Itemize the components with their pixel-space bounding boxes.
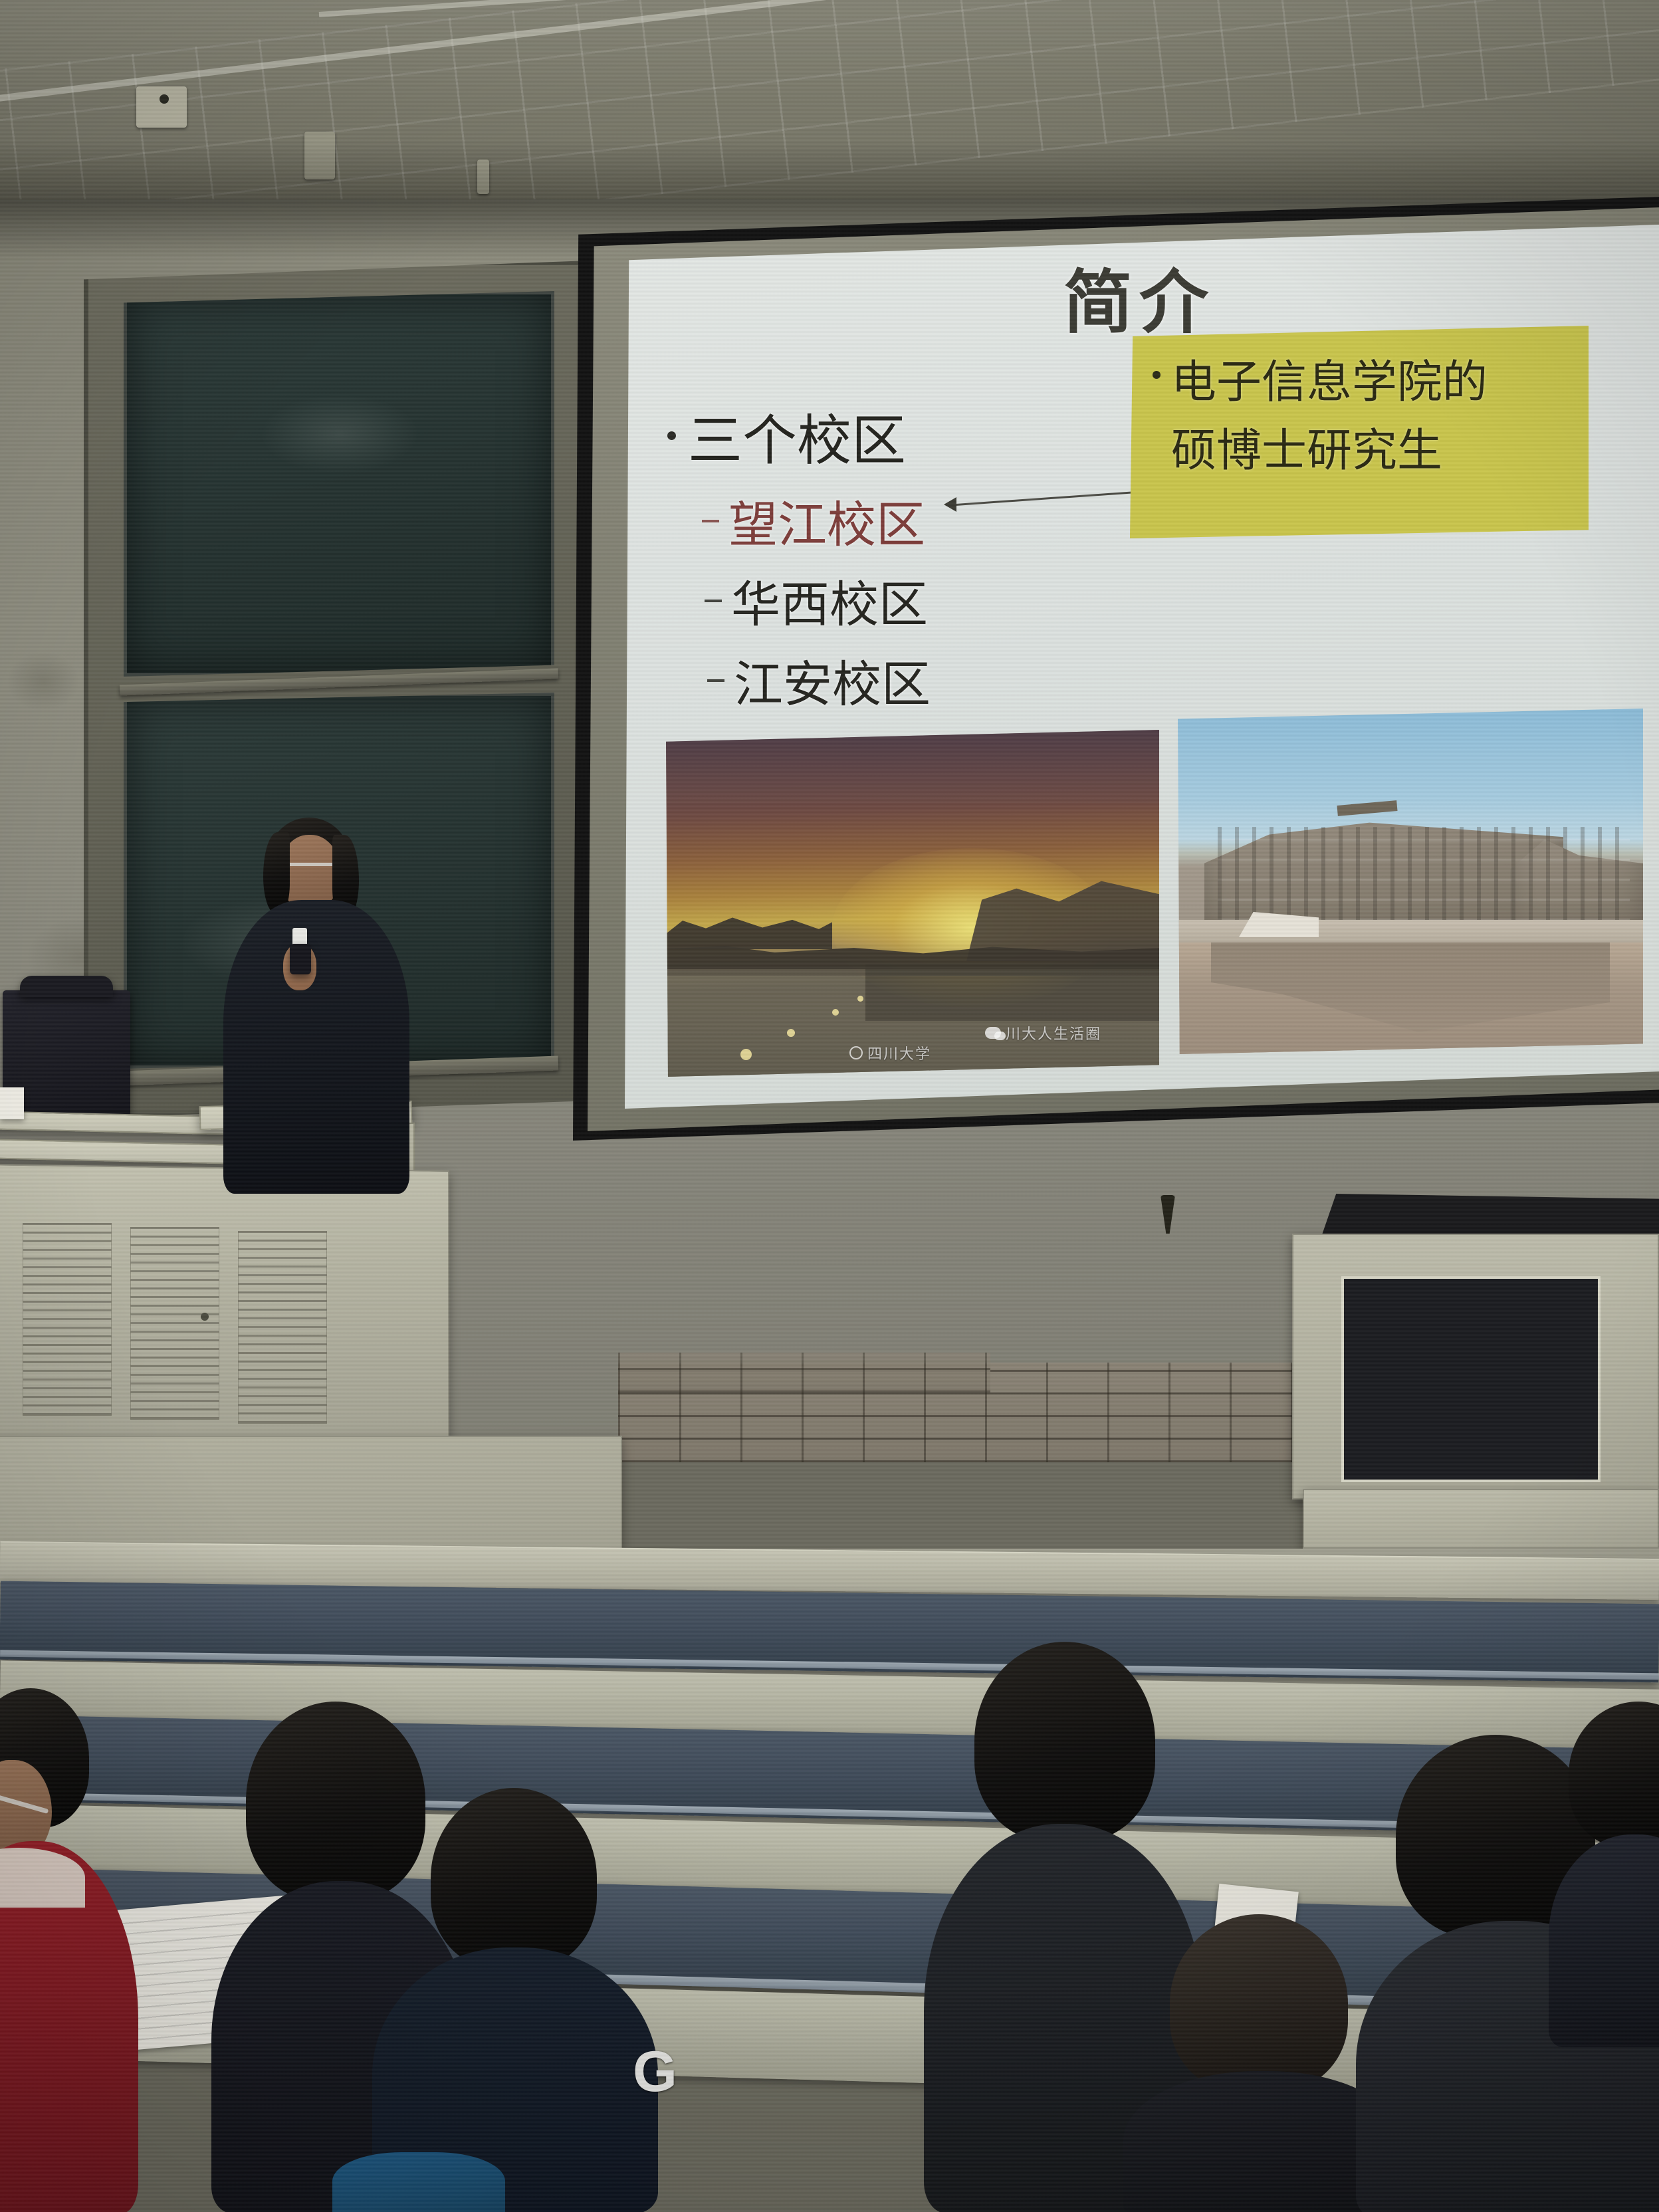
sub-bullet-label: 望江校区 xyxy=(728,485,925,556)
watermark-chuanda-life-circle: 川大人生活圈 xyxy=(985,1022,1101,1044)
chalk-smudge xyxy=(260,394,419,474)
media-cabinet-display[interactable] xyxy=(1341,1276,1601,1482)
student-jacket-accent xyxy=(332,2152,505,2212)
ceiling xyxy=(0,0,1659,219)
watermark-text: 四川大学 xyxy=(867,1042,931,1063)
cloud-band xyxy=(666,730,1159,803)
callout-line-1: 电子信息学院的 xyxy=(1171,356,1488,409)
slide-title: 简介 xyxy=(1063,246,1215,346)
cabinet-vent-mid xyxy=(130,1227,219,1420)
sub-bullet-wangjiang: 望江校区 xyxy=(702,485,925,556)
brick-wainscot xyxy=(618,1353,990,1392)
building-roof xyxy=(1337,800,1397,816)
audience-member-3: G xyxy=(372,1788,631,2212)
cabinet-lock-icon[interactable] xyxy=(201,1313,209,1321)
callout-line-2: 硕博士研究生 xyxy=(1171,425,1442,477)
blackboard-panel-upper xyxy=(124,291,554,677)
ceiling-light-fixture xyxy=(136,86,187,128)
dash-marker-icon xyxy=(707,679,724,682)
sub-bullet-label: 江安校区 xyxy=(734,645,931,716)
sub-bullet-huaxi: 华西校区 xyxy=(705,565,928,636)
ceiling-sensor-icon xyxy=(160,94,169,104)
slide-bullet-three-campuses: 三个校区 xyxy=(667,396,906,475)
dash-marker-icon xyxy=(702,520,719,522)
cabinet-vent-left xyxy=(23,1223,112,1416)
bullet-label: 三个校区 xyxy=(688,396,906,475)
equipment-bag-handle xyxy=(20,976,113,997)
wechat-icon xyxy=(985,1027,1001,1039)
sub-bullet-label: 华西校区 xyxy=(731,565,928,636)
watermark-sichuan-university: 四川大学 xyxy=(849,1042,931,1063)
microphone-body xyxy=(290,944,311,974)
audience-member-7 xyxy=(1549,1702,1659,2034)
watermark-text: 川大人生活圈 xyxy=(1006,1022,1101,1044)
student-jacket xyxy=(1549,1834,1659,2047)
presenter-glasses xyxy=(282,863,336,866)
building-windows xyxy=(1218,827,1630,921)
student-hair xyxy=(1569,1702,1659,1848)
desk-paper xyxy=(0,1087,24,1119)
water-light-speck xyxy=(832,1009,839,1016)
slide-photo-sunset-river: 四川大学 川大人生活圈 xyxy=(666,730,1159,1077)
presenter xyxy=(218,818,417,1196)
student-hair xyxy=(1170,1914,1348,2092)
media-cabinet-base xyxy=(1303,1489,1659,1549)
tree-line-silhouette xyxy=(666,911,832,949)
wall-stain xyxy=(7,651,80,711)
bullet-dot-icon xyxy=(667,431,676,440)
callout-arrow-head-icon xyxy=(944,497,956,512)
water-light-speck xyxy=(857,996,863,1002)
student-hair xyxy=(431,1788,597,1969)
slide-callout-box: 电子信息学院的 硕博士研究生 xyxy=(1130,326,1589,538)
copyright-ring-icon xyxy=(849,1046,863,1059)
presenter-coat xyxy=(223,900,409,1194)
student-hair xyxy=(974,1642,1155,1841)
classroom-photo-scene: 简介 三个校区 望江校区 华西校区 江安校区 电子信息学院的 硕博士研究生 xyxy=(0,0,1659,2212)
slide-photo-campus-building xyxy=(1178,709,1643,1054)
presenter-hair-side xyxy=(263,832,290,913)
reflection-dark-band xyxy=(865,964,1159,1021)
water-light-speck xyxy=(787,1029,795,1037)
dash-marker-icon xyxy=(705,600,722,602)
sub-bullet-jiangan: 江安校区 xyxy=(707,645,931,716)
audience-member-left xyxy=(0,1688,118,2212)
callout-bullet-dot-icon xyxy=(1153,371,1161,379)
cabinet-vent-right xyxy=(238,1231,327,1424)
presentation-slide[interactable]: 简介 三个校区 望江校区 华西校区 江安校区 电子信息学院的 硕博士研究生 xyxy=(625,225,1659,1109)
water-light-speck xyxy=(740,1049,752,1060)
jacket-logo-letter: G xyxy=(633,2039,677,2105)
